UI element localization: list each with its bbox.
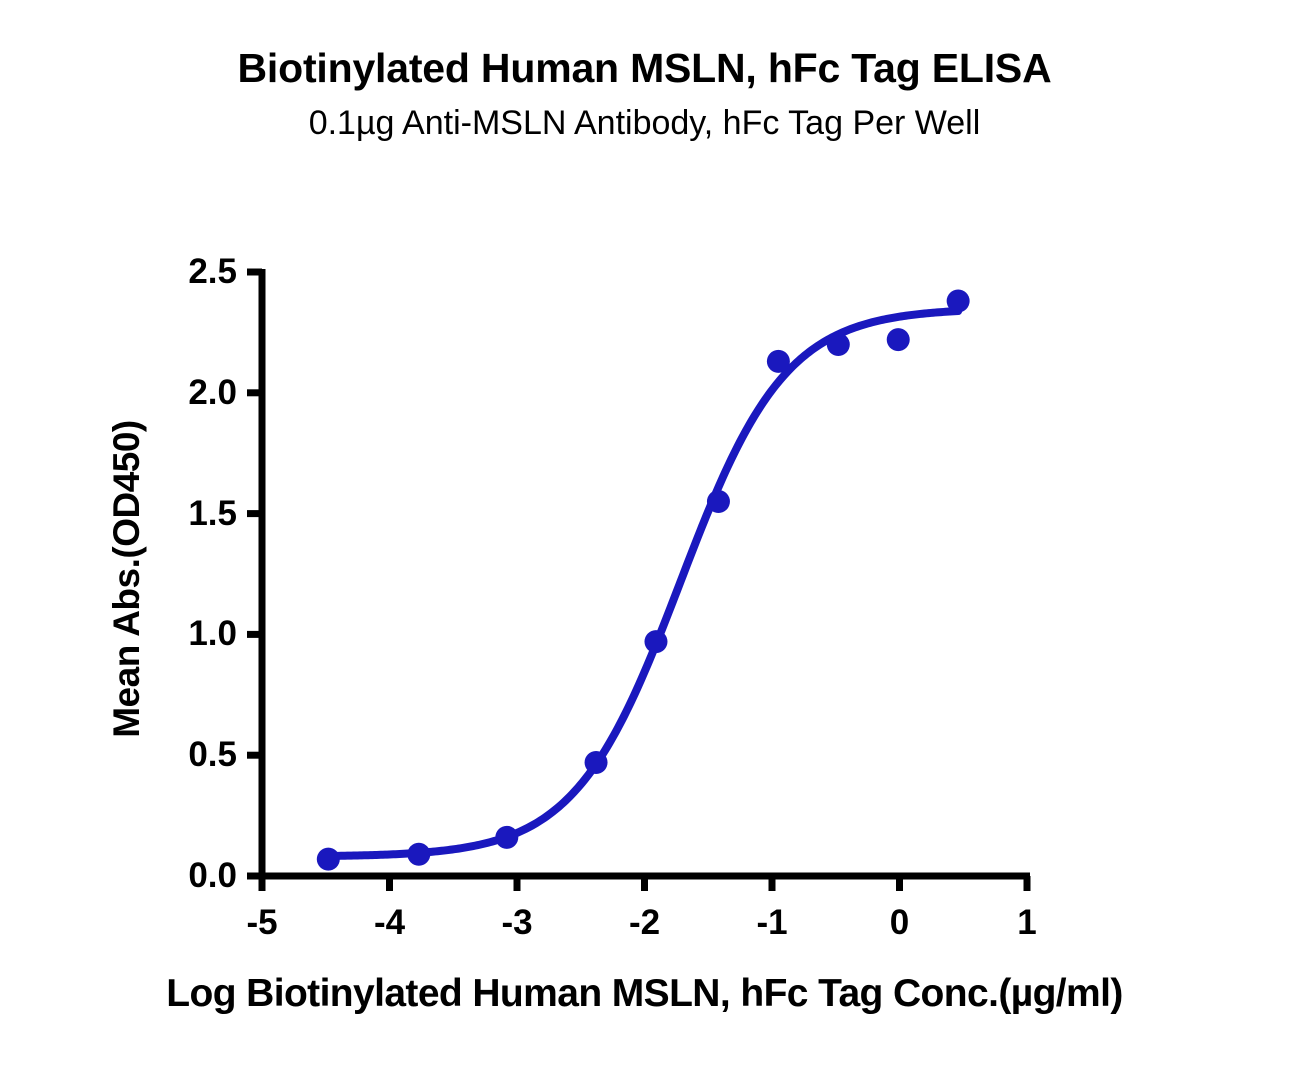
y-tick-label: 1.5 (137, 494, 237, 534)
y-tick-label: 0.0 (137, 856, 237, 896)
data-point-marker (407, 843, 430, 866)
axes (247, 269, 1030, 891)
y-tick-label: 1.0 (137, 614, 237, 654)
data-point-marker (495, 826, 518, 849)
x-tick-label: -2 (629, 903, 660, 943)
data-point-marker (644, 630, 667, 653)
data-points (317, 289, 970, 870)
data-point-marker (827, 333, 850, 356)
data-point-marker (585, 751, 608, 774)
y-axis-label: Mean Abs.(OD450) (106, 329, 148, 829)
data-point-marker (707, 490, 730, 513)
fit-curve (328, 311, 958, 856)
y-tick-label: 2.0 (137, 373, 237, 413)
x-tick-label: 0 (890, 903, 909, 943)
x-tick-label: 1 (1017, 903, 1036, 943)
y-tick-label: 2.5 (137, 252, 237, 292)
data-point-marker (767, 350, 790, 373)
data-point-marker (317, 848, 340, 871)
x-axis-label: Log Biotinylated Human MSLN, hFc Tag Con… (0, 972, 1289, 1016)
data-point-marker (887, 328, 910, 351)
chart-figure: Biotinylated Human MSLN, hFc Tag ELISA 0… (0, 0, 1289, 1076)
x-tick-label: -4 (374, 903, 405, 943)
y-tick-label: 0.5 (137, 735, 237, 775)
data-point-marker (947, 289, 970, 312)
x-tick-label: -5 (246, 903, 277, 943)
x-tick-label: -3 (501, 903, 532, 943)
x-tick-label: -1 (756, 903, 787, 943)
